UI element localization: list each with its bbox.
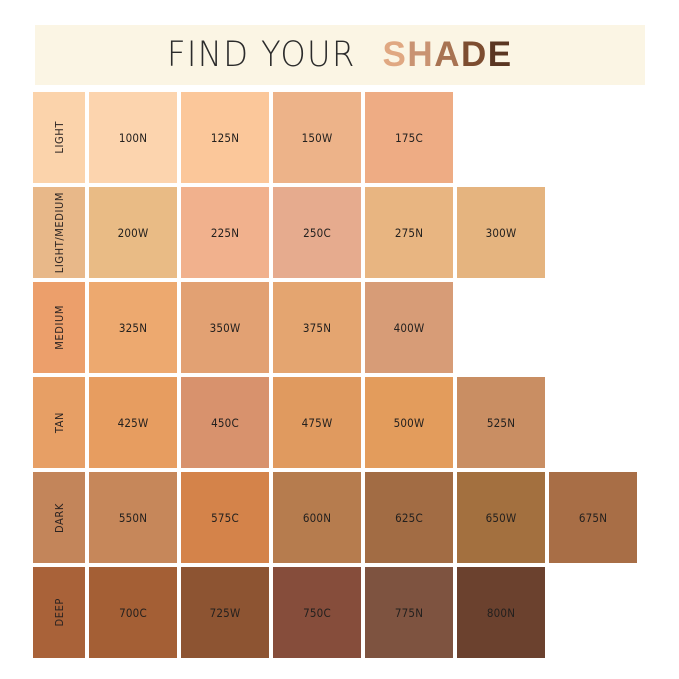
shade-swatch-625C[interactable]: 625C <box>365 472 453 563</box>
row-label-text: LIGHT <box>53 121 66 154</box>
shade-row-light: LIGHT100N125N150W175C <box>33 92 648 183</box>
shade-swatch-675N[interactable]: 675N <box>549 472 637 563</box>
shade-code-label: 675N <box>579 511 607 525</box>
shade-swatch-500W[interactable]: 500W <box>365 377 453 468</box>
shade-code-label: 775N <box>395 606 423 620</box>
shade-swatch-525N[interactable]: 525N <box>457 377 545 468</box>
shade-row-tan: TAN425W450C475W500W525N <box>33 377 648 468</box>
shade-code-label: 175C <box>395 131 423 145</box>
shade-code-label: 200W <box>118 226 149 240</box>
shade-code-label: 575C <box>211 511 239 525</box>
row-label-cell: DEEP <box>33 567 85 658</box>
title-accent-letter-a-2: A <box>434 37 461 72</box>
shade-code-label: 475W <box>302 416 333 430</box>
shade-swatch-775N[interactable]: 775N <box>365 567 453 658</box>
title-accent-letter-s-0: S <box>383 37 408 72</box>
shade-swatch-375N[interactable]: 375N <box>273 282 361 373</box>
shade-swatch-350W[interactable]: 350W <box>181 282 269 373</box>
swatch-group: 100N125N150W175C <box>89 92 453 183</box>
row-label-cell: LIGHT <box>33 92 85 183</box>
shade-swatch-475W[interactable]: 475W <box>273 377 361 468</box>
row-label-text: DEEP <box>53 598 66 627</box>
title-accent-letter-d-3: D <box>461 37 488 72</box>
shade-swatch-175C[interactable]: 175C <box>365 92 453 183</box>
shade-code-label: 375N <box>303 321 331 335</box>
shade-code-label: 650W <box>486 511 517 525</box>
shade-swatch-150W[interactable]: 150W <box>273 92 361 183</box>
shade-row-dark: DARK550N575C600N625C650W675N <box>33 472 648 563</box>
swatch-group: 700C725W750C775N800N <box>89 567 545 658</box>
shade-swatch-300W[interactable]: 300W <box>457 187 545 278</box>
shade-swatch-325N[interactable]: 325N <box>89 282 177 373</box>
shade-swatch-800N[interactable]: 800N <box>457 567 545 658</box>
shade-swatch-425W[interactable]: 425W <box>89 377 177 468</box>
shade-swatch-650W[interactable]: 650W <box>457 472 545 563</box>
page-title-plain: FIND YOUR <box>167 38 356 73</box>
shade-swatch-275N[interactable]: 275N <box>365 187 453 278</box>
shade-code-label: 400W <box>394 321 425 335</box>
shade-code-label: 700C <box>119 606 147 620</box>
shade-swatch-200W[interactable]: 200W <box>89 187 177 278</box>
shade-swatch-725W[interactable]: 725W <box>181 567 269 658</box>
shade-swatch-125N[interactable]: 125N <box>181 92 269 183</box>
row-label-text: DARK <box>53 503 66 533</box>
shade-row-light-medium: LIGHT/MEDIUM200W225N250C275N300W <box>33 187 648 278</box>
shade-code-label: 525N <box>487 416 515 430</box>
row-label-cell: DARK <box>33 472 85 563</box>
shade-code-label: 250C <box>303 226 331 240</box>
shade-code-label: 275N <box>395 226 423 240</box>
shade-code-label: 450C <box>211 416 239 430</box>
shade-code-label: 150W <box>302 131 333 145</box>
page-title-accent: SHADE <box>383 37 513 72</box>
page-title: FIND YOUR SHADE <box>167 37 512 73</box>
swatch-group: 200W225N250C275N300W <box>89 187 545 278</box>
shade-code-label: 225N <box>211 226 239 240</box>
shade-code-label: 800N <box>487 606 515 620</box>
swatch-group: 425W450C475W500W525N <box>89 377 545 468</box>
shade-code-label: 125N <box>211 131 239 145</box>
title-accent-letter-e-4: E <box>488 37 513 72</box>
shade-code-label: 625C <box>395 511 423 525</box>
shade-swatch-700C[interactable]: 700C <box>89 567 177 658</box>
shade-code-label: 550N <box>119 511 147 525</box>
shade-swatch-550N[interactable]: 550N <box>89 472 177 563</box>
shade-swatch-450C[interactable]: 450C <box>181 377 269 468</box>
shade-code-label: 500W <box>394 416 425 430</box>
shade-grid: LIGHT100N125N150W175CLIGHT/MEDIUM200W225… <box>33 92 648 662</box>
row-label-text: LIGHT/MEDIUM <box>53 192 66 273</box>
swatch-group: 325N350W375N400W <box>89 282 453 373</box>
row-label-cell: TAN <box>33 377 85 468</box>
swatch-group: 550N575C600N625C650W675N <box>89 472 637 563</box>
shade-code-label: 750C <box>303 606 331 620</box>
shade-code-label: 725W <box>210 606 241 620</box>
shade-finder-chart: FIND YOUR SHADE LIGHT100N125N150W175CLIG… <box>0 0 679 679</box>
shade-code-label: 100N <box>119 131 147 145</box>
shade-swatch-600N[interactable]: 600N <box>273 472 361 563</box>
row-label-cell: MEDIUM <box>33 282 85 373</box>
row-label-text: TAN <box>53 412 66 433</box>
shade-code-label: 600N <box>303 511 331 525</box>
shade-swatch-225N[interactable]: 225N <box>181 187 269 278</box>
row-label-text: MEDIUM <box>53 305 66 350</box>
shade-row-deep: DEEP700C725W750C775N800N <box>33 567 648 658</box>
shade-swatch-250C[interactable]: 250C <box>273 187 361 278</box>
shade-swatch-100N[interactable]: 100N <box>89 92 177 183</box>
shade-code-label: 325N <box>119 321 147 335</box>
row-label-cell: LIGHT/MEDIUM <box>33 187 85 278</box>
shade-swatch-400W[interactable]: 400W <box>365 282 453 373</box>
shade-swatch-750C[interactable]: 750C <box>273 567 361 658</box>
title-accent-letter-h-1: H <box>407 37 434 72</box>
shade-code-label: 300W <box>486 226 517 240</box>
shade-code-label: 425W <box>118 416 149 430</box>
shade-swatch-575C[interactable]: 575C <box>181 472 269 563</box>
shade-code-label: 350W <box>210 321 241 335</box>
shade-row-medium: MEDIUM325N350W375N400W <box>33 282 648 373</box>
header-banner: FIND YOUR SHADE <box>35 25 645 85</box>
